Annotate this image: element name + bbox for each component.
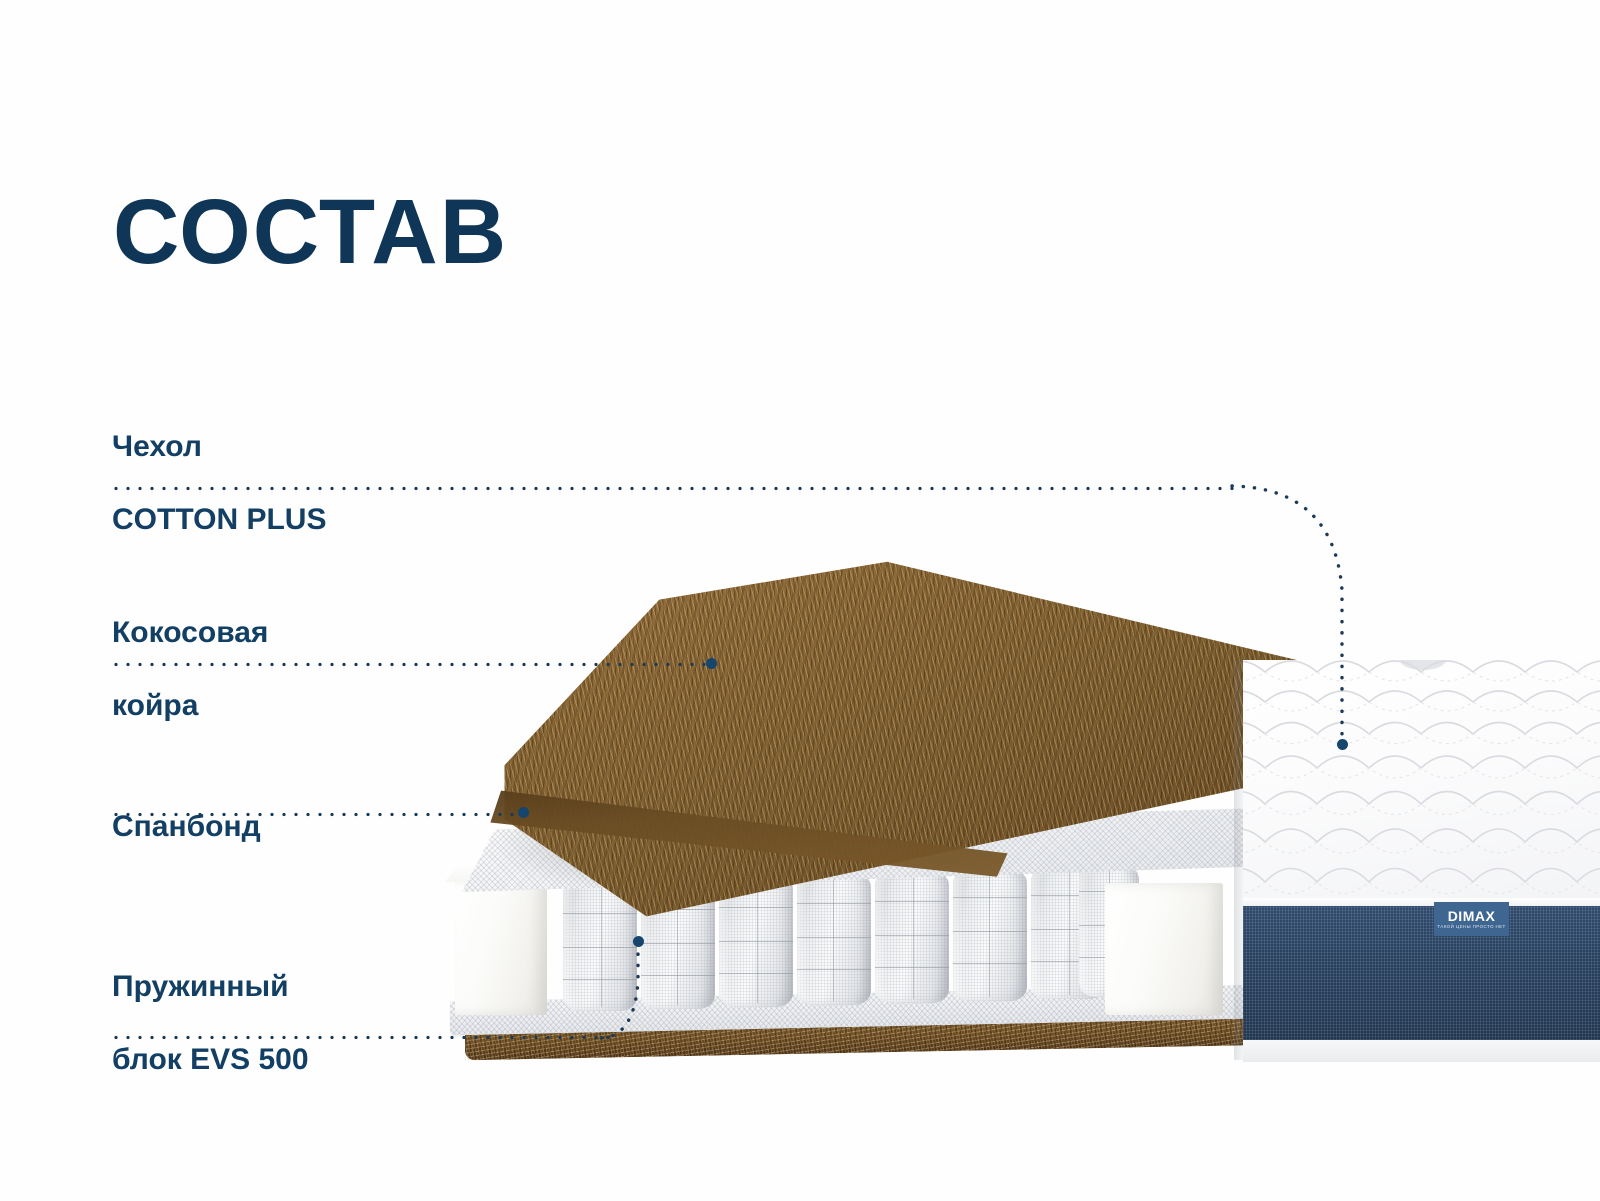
composition-figure: DIMAX ТАКОЙ ЦЕНЫ ПРОСТО НЕТ СОСТАВ Чехол… (0, 0, 1600, 1201)
layer-label-coir: Кокосовая койра (112, 578, 268, 761)
leader-line-spunbond (110, 812, 520, 817)
leader-line-coir (110, 662, 712, 667)
leader-endpoint-spunbond (518, 807, 529, 818)
layer-label-cover: Чехол COTTON PLUS (112, 392, 326, 575)
leader-endpoint-cover (1337, 739, 1348, 750)
leader-line-cover (110, 486, 1240, 491)
layer-label-spring-block: Пружинный блок EVS 500 (112, 932, 309, 1115)
layer-label-coir-line2: койра (112, 688, 268, 725)
layer-label-coir-line1: Кокосовая (112, 615, 268, 652)
dimax-brand-badge: DIMAX ТАКОЙ ЦЕНЫ ПРОСТО НЕТ (1434, 902, 1509, 936)
layer-label-spring-line2: блок EVS 500 (112, 1042, 309, 1079)
brand-name: DIMAX (1448, 909, 1496, 923)
layer-label-cover-line2: COTTON PLUS (112, 502, 326, 539)
cover-side-band (1243, 906, 1600, 1046)
coir-surface (440, 560, 1300, 920)
layer-label-spring-line1: Пружинный (112, 969, 309, 1006)
leader-endpoint-spring (633, 936, 644, 947)
leader-endpoint-coir (706, 658, 717, 669)
cover-bottom-edge (1243, 1040, 1600, 1062)
leader-curve-spring (600, 920, 660, 1050)
page-title: СОСТАВ (113, 186, 508, 278)
leader-line-spring (110, 1035, 610, 1040)
coconut-coir-slab (440, 560, 1300, 920)
layer-label-cover-line1: Чехол (112, 429, 326, 466)
layer-label-spunbond: Спанбонд (112, 772, 261, 882)
brand-tagline: ТАКОЙ ЦЕНЫ ПРОСТО НЕТ (1437, 925, 1505, 930)
leader-curve-cover (1230, 470, 1390, 770)
